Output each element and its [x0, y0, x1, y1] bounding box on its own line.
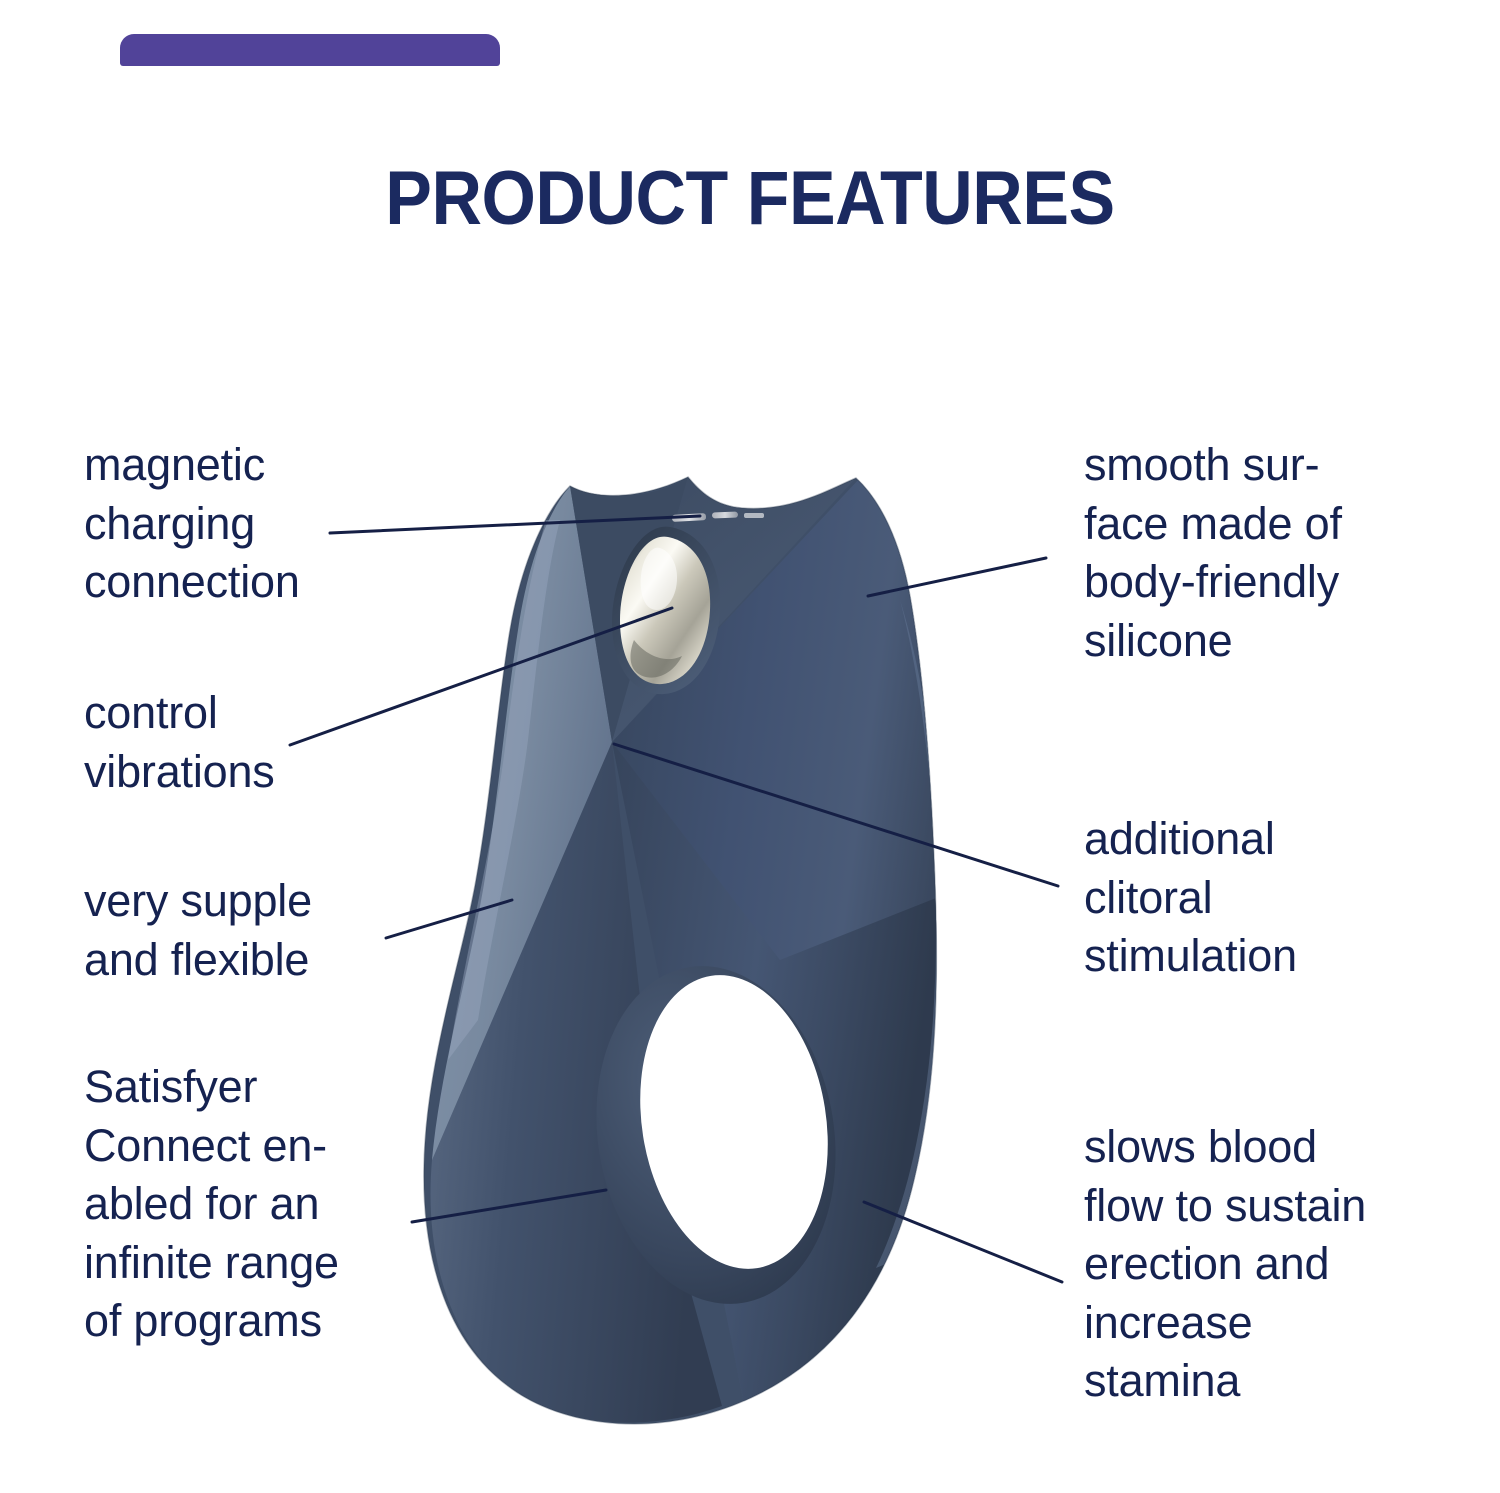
feature-label-satisfyer-connect-enabled: Satisfyer Connect en- abled for an infin…: [84, 1058, 424, 1351]
feature-label-magnetic-charging-connection: magnetic charging connection: [84, 436, 414, 612]
chrome-control-button[interactable]: [612, 527, 720, 694]
leader-line-smooth: [868, 558, 1046, 596]
leader-line-connect: [412, 1190, 606, 1222]
feature-label-additional-clitoral-stimulation: additional clitoral stimulation: [1084, 810, 1424, 986]
page-title: PRODUCT FEATURES: [60, 160, 1440, 238]
top-purple-banner: [120, 34, 500, 66]
leader-line-blood: [864, 1202, 1062, 1282]
ring-opening: [573, 949, 859, 1322]
feature-label-slows-blood-flow: slows blood flow to sustain erection and…: [1084, 1118, 1454, 1411]
device-outline: [424, 477, 937, 1424]
feature-label-very-supple-and-flexible: very supple and flexible: [84, 872, 414, 989]
feature-label-smooth-surface-silicone: smooth sur- face made of body-friendly s…: [1084, 436, 1444, 670]
magnetic-charging-contacts: [672, 512, 764, 522]
feature-label-control-vibrations: control vibrations: [84, 684, 414, 801]
product-features-page: PRODUCT FEATURES: [0, 0, 1500, 1493]
device-body: [400, 450, 980, 1460]
leader-line-clitoral: [614, 744, 1058, 886]
